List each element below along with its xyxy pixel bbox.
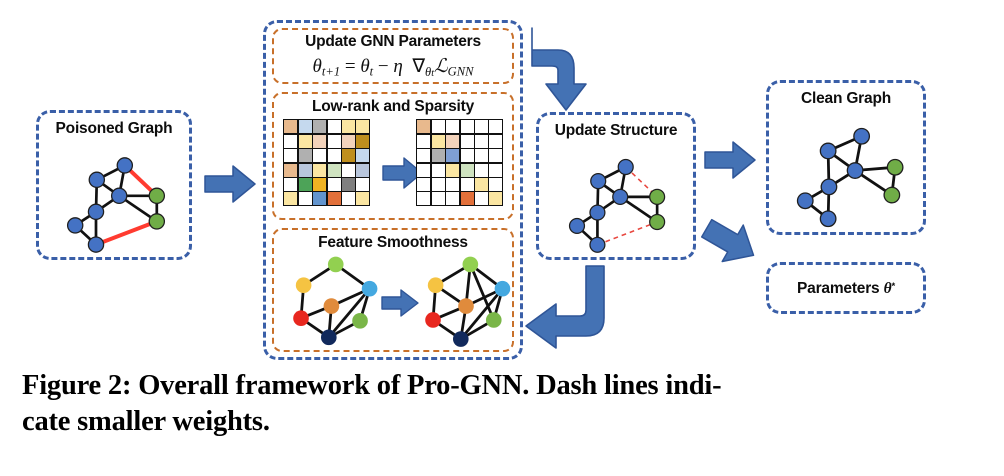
update-structure-box: Update Structure (536, 112, 696, 260)
feature-smoothness-title: Feature Smoothness (274, 234, 512, 252)
arrow-structure-to-parameters (700, 218, 770, 280)
parameters-box: Parameters θ* (766, 262, 926, 314)
arrow-structure-to-clean (703, 140, 759, 182)
parameters-label: Parameters (797, 280, 884, 297)
update-structure-drawing (545, 145, 697, 255)
update-gnn-parameters-title: Update GNN Parameters (274, 33, 512, 51)
update-gnn-parameters-box: Update GNN Parameters θt+1 = θt − η ∇θtℒ… (272, 28, 514, 84)
feature-graph-left (282, 254, 386, 346)
arrow-structure-to-middle (508, 262, 618, 372)
clean-graph-drawing (775, 115, 927, 231)
sparse-matrix (417, 120, 503, 206)
feature-smoothness-box: Feature Smoothness (272, 228, 514, 352)
figure-canvas: Poisoned Graph (0, 0, 1004, 476)
feature-graph-right (414, 254, 518, 346)
theta-superscript: * (891, 281, 895, 292)
figure-caption: Figure 2: Overall framework of Pro-GNN. … (22, 368, 982, 440)
caption-line-1: Figure 2: Overall framework of Pro-GNN. … (22, 368, 982, 404)
clean-graph-box: Clean Graph (766, 80, 926, 235)
dense-matrix (284, 120, 370, 206)
update-gnn-equation: θt+1 = θt − η ∇θtℒGNN (274, 55, 512, 80)
poisoned-graph-drawing (45, 143, 195, 255)
clean-graph-title: Clean Graph (769, 90, 923, 108)
poisoned-graph-box: Poisoned Graph (36, 110, 192, 260)
poisoned-graph-title: Poisoned Graph (39, 120, 189, 138)
update-structure-title: Update Structure (539, 122, 693, 140)
caption-line-2: cate smaller weights. (22, 404, 982, 440)
parameters-title: Parameters θ* (769, 280, 923, 298)
arrow-poisoned-to-middle (203, 163, 259, 207)
low-rank-sparsity-title: Low-rank and Sparsity (274, 98, 512, 116)
arrow-middle-to-structure (530, 22, 610, 122)
low-rank-sparsity-box: Low-rank and Sparsity (272, 92, 514, 220)
